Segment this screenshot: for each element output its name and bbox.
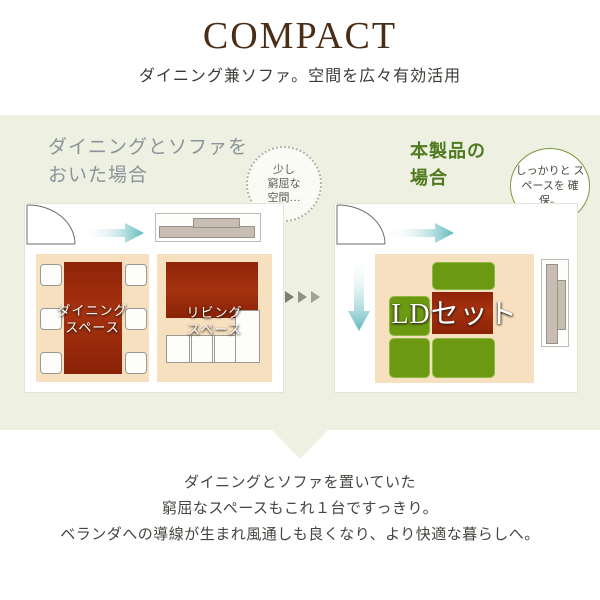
band-notch-arrow [271, 429, 329, 459]
wall-shelf [541, 259, 569, 347]
down-arrow-icon [347, 256, 371, 337]
right-floor-plan: LDセット [334, 203, 578, 393]
door-swing-arc-icon [25, 204, 77, 249]
left-section-heading: ダイニングとソファを おいた場合 [48, 134, 268, 190]
chair [40, 264, 62, 286]
sofa-section-left-lower [389, 338, 430, 378]
chair [125, 264, 147, 286]
sofa-section-left-upper [389, 296, 430, 336]
living-room [157, 254, 272, 382]
sofa-section-top [432, 262, 495, 290]
triangle-1 [285, 291, 294, 303]
header: COMPACT ダイニング兼ソファ。空間を広々有効活用 [0, 0, 600, 115]
footer-description: ダイニングとソファを置いていた 窮屈なスペースもこれ１台ですっきり。 ベランダへ… [0, 470, 600, 548]
right-bubble-line1: しっかりと [516, 165, 571, 177]
triangle-3 [311, 291, 320, 303]
ld-table [432, 292, 493, 334]
right-arrow-icon [387, 222, 455, 249]
page-subtitle: ダイニング兼ソファ。空間を広々有効活用 [0, 62, 600, 86]
left-heading-line2: おいた場合 [48, 162, 268, 190]
sofa-divider [189, 335, 192, 363]
ld-room [375, 254, 534, 383]
tv-cabinet [155, 213, 261, 242]
sofa-chaise [235, 310, 260, 363]
chair [40, 308, 62, 330]
footer-line3: ベランダへの導線が生まれ風通しも良くなり、より快適な暮らしへ。 [0, 522, 600, 548]
left-bubble-line1: 少し [268, 163, 301, 177]
left-floor-plan: ダイニング スペース リビング スペース [24, 203, 284, 393]
triple-triangle-icon [285, 290, 327, 304]
right-heading-line1: 本製品の [410, 138, 530, 165]
dining-room [36, 254, 149, 382]
sofa-section-bottom [432, 338, 495, 378]
chair [40, 352, 62, 374]
shelf-panel-right [557, 280, 566, 330]
footer-line1: ダイニングとソファを置いていた [0, 470, 600, 496]
chair [125, 308, 147, 330]
dining-table [64, 262, 122, 374]
left-bubble-line2: 窮屈な [268, 177, 301, 191]
sofa-divider [212, 335, 215, 363]
triangle-2 [298, 291, 307, 303]
cabinet-upper-shelf [193, 218, 240, 228]
door-swing-arc-icon [335, 204, 387, 249]
chair [125, 352, 147, 374]
advertisement-page: COMPACT ダイニング兼ソファ。空間を広々有効活用 ダイニングとソファを お… [0, 0, 600, 600]
left-heading-line1: ダイニングとソファを [48, 134, 268, 162]
footer-line2: 窮屈なスペースもこれ１台ですっきり。 [0, 496, 600, 522]
right-arrow-icon [83, 222, 145, 249]
page-title: COMPACT [0, 14, 600, 58]
